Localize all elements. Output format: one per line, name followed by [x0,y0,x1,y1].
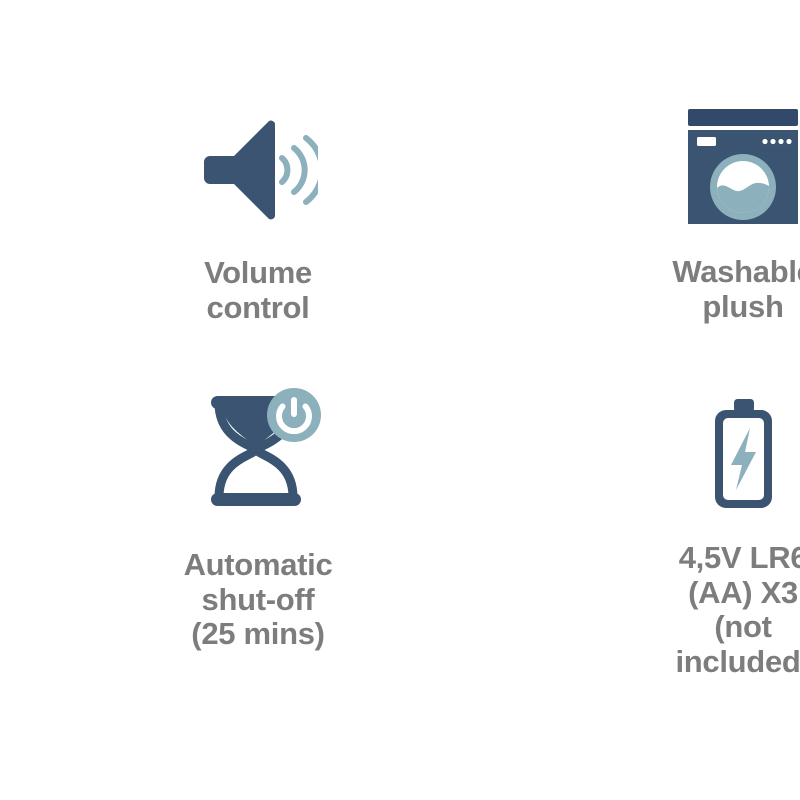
feature-item-battery-requirement: 4,5V LR6 (AA) X3 (not included) [400,355,800,800]
feature-grid: Volume control [0,0,800,800]
feature-item-volume-control: Volume control [0,0,400,355]
feature-label-battery-requirement: 4,5V LR6 (AA) X3 (not included) [675,541,800,680]
feature-label-automatic-shut-off: Automatic shut-off (25 mins) [184,548,333,652]
battery-icon [688,395,798,515]
speaker-volume-icon [198,110,318,230]
feature-label-washable-plush: Washable plush [672,255,800,324]
hourglass-power-icon [193,383,323,518]
feature-item-automatic-shut-off: Automatic shut-off (25 mins) [0,355,400,800]
feature-item-washable-plush: Washable plush [400,0,800,355]
feature-label-volume-control: Volume control [204,256,312,325]
washing-machine-icon [678,104,800,229]
